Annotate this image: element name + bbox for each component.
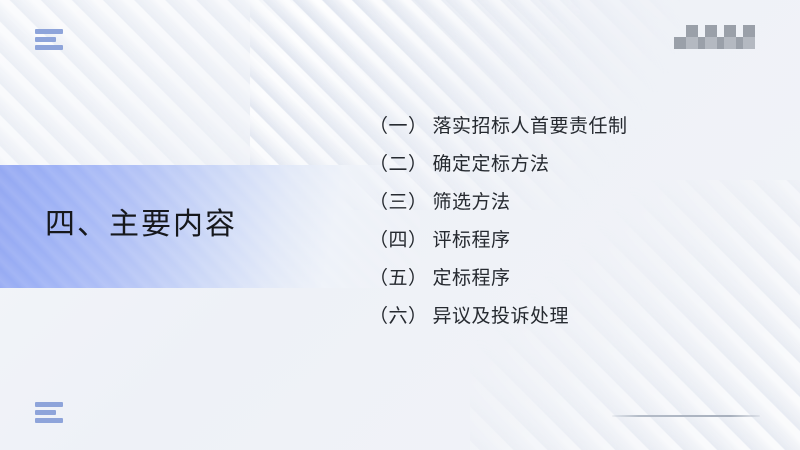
menu-icon-bar [35,29,63,34]
list-item-label: 定标程序 [433,268,511,289]
checker-square [686,25,698,37]
list-item-marker: （二） [369,154,428,175]
slide-canvas: 四、主要内容 （一）落实招标人首要责任制 （二）确定定标方法 （三）筛选方法 （… [0,0,800,450]
footer-divider [612,415,760,417]
list-item: （六）异议及投诉处理 [369,298,769,336]
menu-icon-bar [35,45,63,50]
list-item-marker: （三） [369,192,428,213]
menu-icon-bar [35,410,56,415]
list-item-label: 确定定标方法 [433,154,550,175]
list-item-label: 落实招标人首要责任制 [433,116,628,137]
list-item-label: 筛选方法 [433,192,511,213]
checker-square [743,37,755,49]
checker-square [743,25,755,37]
list-item-marker: （五） [369,268,428,289]
list-item-label: 评标程序 [433,230,511,251]
list-item: （五）定标程序 [369,260,769,298]
checker-square [674,37,686,49]
page-title: 四、主要内容 [45,203,237,247]
list-item: （一）落实招标人首要责任制 [369,108,769,146]
list-item-marker: （六） [369,306,428,327]
list-item-marker: （四） [369,230,428,251]
menu-icon-top-left [35,29,63,50]
content-outline-list: （一）落实招标人首要责任制 （二）确定定标方法 （三）筛选方法 （四）评标程序 … [369,108,769,336]
checker-square [724,25,736,37]
list-item-label: 异议及投诉处理 [433,306,570,327]
menu-icon-bottom-left [35,402,63,423]
checker-strip-icon [674,25,762,49]
menu-icon-bar [35,402,63,407]
menu-icon-bar [35,37,56,42]
checker-square [686,37,698,49]
checker-square [705,25,717,37]
list-item: （三）筛选方法 [369,184,769,222]
menu-icon-bar [35,418,63,423]
checker-square [724,37,736,49]
list-item: （四）评标程序 [369,222,769,260]
list-item-marker: （一） [369,116,428,137]
checker-square [705,37,717,49]
list-item: （二）确定定标方法 [369,146,769,184]
